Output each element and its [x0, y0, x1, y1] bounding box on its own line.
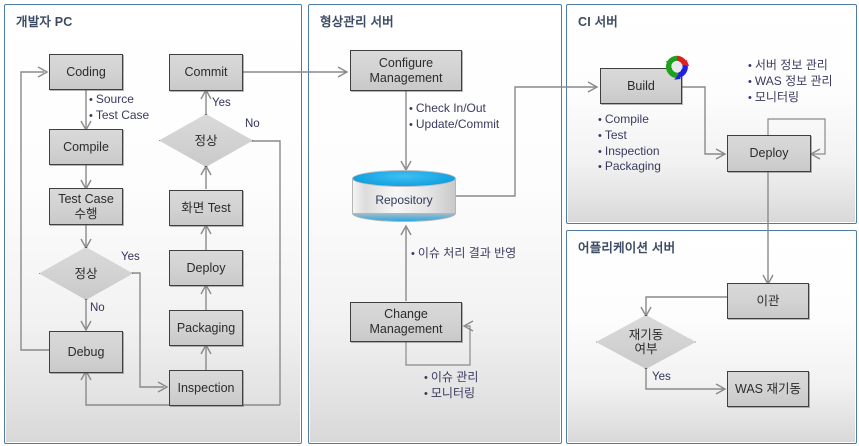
node-commit[interactable]: Commit	[169, 54, 243, 91]
note-checkin-item-1: Update/Commit	[409, 117, 499, 133]
node-configure-management[interactable]: Configure Management	[350, 50, 462, 91]
panel-title-scm-server: 형상관리 서버	[320, 11, 394, 30]
edge-label-yes-top: Yes	[212, 97, 231, 109]
node-commit-label: Commit	[184, 65, 227, 79]
panel-title-developer-pc: 개발자 PC	[16, 11, 73, 30]
diagram-canvas: 개발자 PC 형상관리 서버 CI 서버 어플리케이션 서버	[0, 0, 859, 446]
note-source-testcase: Source Test Case	[89, 92, 149, 124]
decision-normal-bottom-label: 정상	[39, 247, 133, 300]
note-build-item-0: Compile	[598, 112, 661, 128]
node-deploy-dev[interactable]: Deploy	[169, 250, 243, 286]
node-migration-label: 이관	[756, 294, 779, 308]
note-checkin-item-0: Check In/Out	[409, 101, 499, 117]
edge-label-yes-bottom: Yes	[121, 251, 140, 263]
note-build-item-3: Packaging	[598, 159, 661, 175]
node-inspection-dev-label: Inspection	[178, 381, 235, 395]
repository-top-ellipse	[352, 170, 456, 187]
note-build-items: Compile Test Inspection Packaging	[598, 112, 661, 175]
node-coding-label: Coding	[66, 65, 106, 79]
node-configure-management-line2: Management	[370, 71, 443, 86]
edge-label-no-top: No	[245, 118, 260, 130]
node-packaging-dev[interactable]: Packaging	[169, 310, 243, 346]
decision-restart[interactable]: 재기동 여부	[596, 315, 696, 369]
node-deploy-ci[interactable]: Deploy	[727, 135, 811, 172]
note-checkin-update: Check In/Out Update/Commit	[409, 101, 499, 133]
node-screen-test-label: 화면 Test	[181, 201, 230, 215]
note-build-item-1: Test	[598, 128, 661, 144]
node-change-management-line1: Change	[384, 307, 428, 322]
node-change-management[interactable]: Change Management	[350, 302, 462, 342]
node-migration[interactable]: 이관	[727, 283, 809, 319]
decision-restart-line2: 여부	[634, 342, 657, 356]
decision-normal-bottom[interactable]: 정상	[39, 247, 133, 300]
node-was-restart-label: WAS 재기동	[735, 382, 801, 396]
node-debug[interactable]: Debug	[49, 331, 123, 373]
panel-title-application-server: 어플리케이션 서버	[578, 237, 675, 256]
note-issue-result: 이슈 처리 결과 반영	[411, 246, 516, 262]
edge-label-no-bottom: No	[90, 302, 105, 314]
node-build-label: Build	[627, 79, 655, 93]
decision-normal-top[interactable]: 정상	[159, 114, 253, 167]
note-deploy-item-1: WAS 정보 관리	[748, 74, 833, 90]
node-test-case-execution[interactable]: Test Case 수행	[49, 188, 123, 225]
decision-normal-top-label: 정상	[159, 114, 253, 167]
note-issue-management: 이슈 관리 모니터링	[424, 370, 478, 402]
edge-label-restart-yes: Yes	[652, 371, 671, 383]
note-issue-management-item-0: 이슈 관리	[424, 370, 478, 386]
node-deploy-ci-label: Deploy	[750, 146, 789, 160]
note-source-testcase-item-0: Source	[89, 92, 149, 108]
node-test-case-line1: Test Case	[58, 192, 114, 207]
note-build-item-2: Inspection	[598, 144, 661, 160]
node-compile-label: Compile	[63, 140, 109, 154]
note-issue-result-item-0: 이슈 처리 결과 반영	[411, 246, 516, 262]
note-deploy-item-0: 서버 정보 관리	[748, 58, 833, 74]
node-inspection-dev[interactable]: Inspection	[169, 370, 243, 406]
node-packaging-dev-label: Packaging	[177, 321, 235, 335]
ci-refresh-icon	[662, 52, 692, 82]
note-deploy-item-2: 모니터링	[748, 90, 833, 106]
note-source-testcase-item-1: Test Case	[89, 108, 149, 124]
note-deploy-items: 서버 정보 관리 WAS 정보 관리 모니터링	[748, 58, 833, 105]
node-deploy-dev-label: Deploy	[187, 261, 226, 275]
decision-restart-label: 재기동 여부	[596, 315, 696, 369]
decision-restart-line1: 재기동	[629, 328, 664, 342]
node-was-restart[interactable]: WAS 재기동	[727, 371, 809, 407]
node-coding[interactable]: Coding	[49, 54, 123, 90]
node-compile[interactable]: Compile	[49, 129, 123, 165]
node-repository[interactable]: Repository	[352, 170, 456, 222]
panel-title-ci-server: CI 서버	[578, 11, 618, 30]
node-configure-management-line1: Configure	[379, 56, 433, 71]
node-change-management-line2: Management	[370, 322, 443, 337]
note-issue-management-item-1: 모니터링	[424, 386, 478, 402]
node-screen-test[interactable]: 화면 Test	[169, 190, 243, 226]
node-repository-label: Repository	[352, 187, 456, 212]
node-test-case-line2: 수행	[74, 207, 97, 222]
node-debug-label: Debug	[68, 345, 105, 359]
